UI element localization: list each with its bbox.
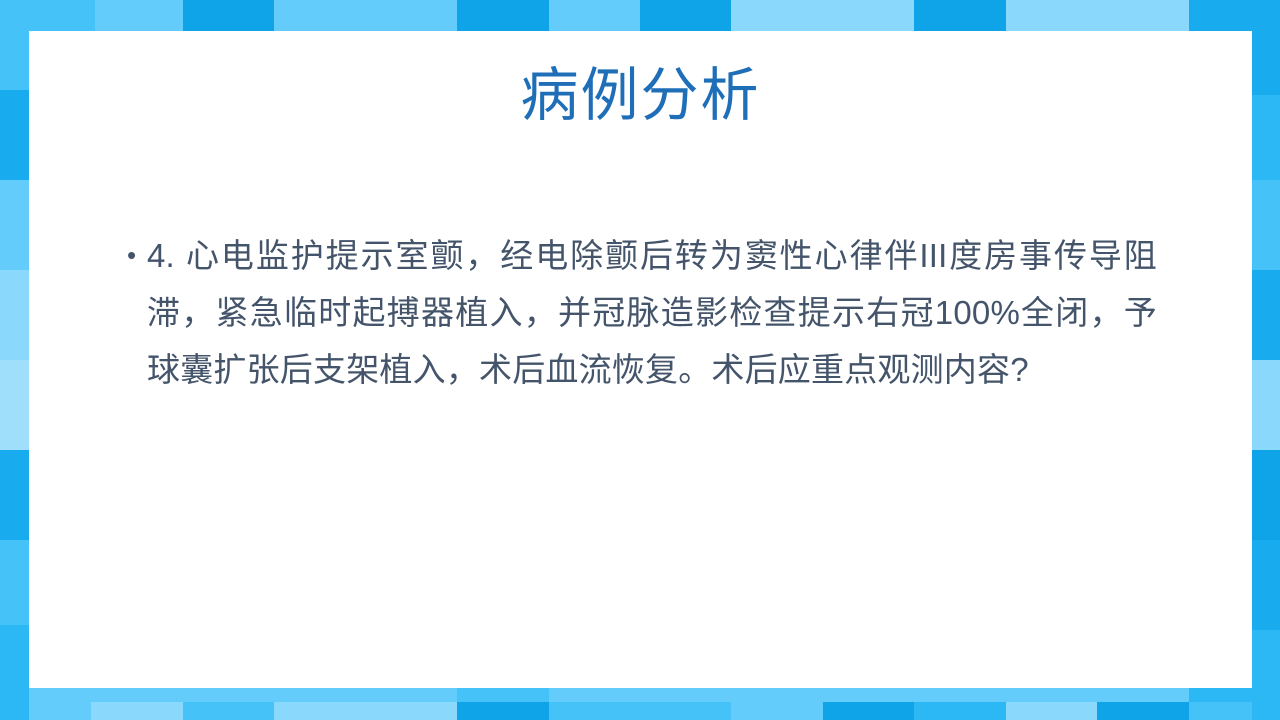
mosaic-tile-bottom-upper [366,688,459,702]
mosaic-tile-top-band [91,0,184,31]
mosaic-tile-right-accent [1264,360,1280,451]
mosaic-tile-top-band [914,0,1007,31]
mosaic-tile-bottom [1006,702,1099,720]
mosaic-tile-bottom-upper [1006,688,1099,702]
mosaic-tile-corner-tl [0,0,95,31]
mosaic-tile-left-accent [0,270,19,361]
mosaic-tile-left-accent [0,540,19,631]
mosaic-tile-bottom [914,702,1007,720]
bullet-marker-icon: • [127,227,147,284]
mosaic-tile-bottom-upper [457,688,550,702]
mosaic-tile-top-band [731,0,824,31]
mosaic-tile-top-band [1097,0,1190,31]
mosaic-tile-bottom-upper [274,688,367,702]
mosaic-tile-left-accent [0,180,19,271]
mosaic-tile-right-accent [1264,180,1280,271]
bullet-text: 4. 心电监护提示室颤，经电除颤后转为窦性心律伴III度房事传导阻滞，紧急临时起… [147,227,1157,398]
mosaic-tile-bottom [183,702,276,720]
mosaic-tile-bottom [274,702,367,720]
mosaic-tile-bottom-upper [91,688,184,702]
mosaic-tile-bottom [823,702,916,720]
mosaic-tile-top-band [1006,0,1099,31]
mosaic-tile-bottom [457,702,550,720]
mosaic-tile-bottom [1097,702,1190,720]
page-title: 病例分析 [29,63,1252,130]
mosaic-tile-top-band [183,0,276,31]
mosaic-tile-bottom [366,702,459,720]
mosaic-tile-right-accent [1264,270,1280,361]
mosaic-tile-corner-br [1252,688,1280,720]
mosaic-tile-bottom [731,702,824,720]
mosaic-tile-bottom-upper [914,688,1007,702]
mosaic-tile-bottom [640,702,733,720]
mosaic-tile-top-band [549,0,642,31]
mosaic-tile-top-band [640,0,733,31]
mosaic-tile-bottom-upper [549,688,642,702]
mosaic-tile-bottom-upper [183,688,276,702]
mosaic-tile-right-accent [1264,450,1280,541]
mosaic-tile-bottom-upper [823,688,916,702]
mosaic-tile-left-accent [0,450,19,541]
mosaic-tile-corner-tr [1252,0,1280,95]
list-item: • 4. 心电监护提示室颤，经电除颤后转为窦性心律伴III度房事传导阻滞，紧急临… [127,227,1157,398]
mosaic-tile-bottom-upper [731,688,824,702]
mosaic-tile-right-accent [1264,90,1280,181]
mosaic-tile-top-band [457,0,550,31]
mosaic-tile-right-accent [1264,540,1280,631]
mosaic-tile-left-accent [0,360,19,451]
mosaic-tile-bottom-upper [1097,688,1190,702]
slide-content-area: 病例分析 • 4. 心电监护提示室颤，经电除颤后转为窦性心律伴III度房事传导阻… [29,31,1252,688]
mosaic-tile-corner-bl [0,625,29,720]
mosaic-tile-top-band [366,0,459,31]
mosaic-tile-bottom-upper [640,688,733,702]
slide: 病例分析 • 4. 心电监护提示室颤，经电除颤后转为窦性心律伴III度房事传导阻… [0,0,1280,720]
mosaic-tile-bottom [91,702,184,720]
mosaic-tile-left-accent [0,90,19,181]
body-content: • 4. 心电监护提示室颤，经电除颤后转为窦性心律伴III度房事传导阻滞，紧急临… [127,227,1157,398]
mosaic-tile-bottom [549,702,642,720]
mosaic-tile-top-band [823,0,916,31]
mosaic-tile-top-band [274,0,367,31]
